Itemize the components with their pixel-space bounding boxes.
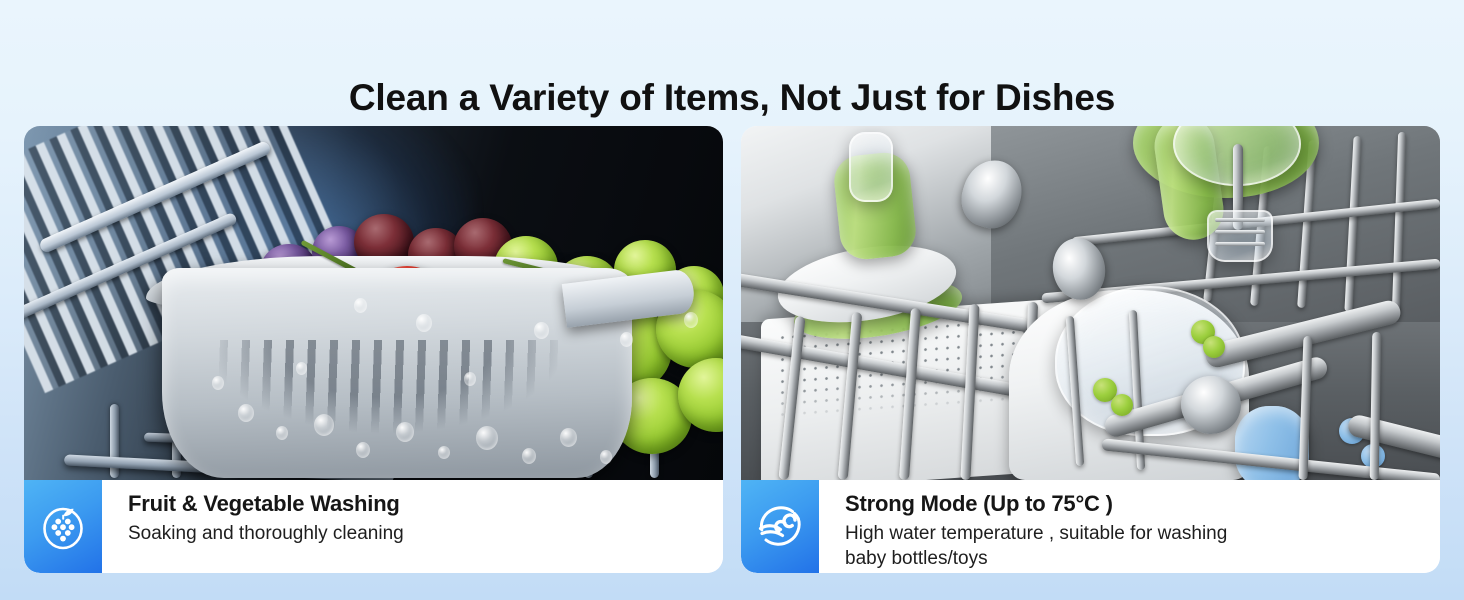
caption-subtitle-line1: High water temperature , suitable for wa…: [845, 523, 1227, 544]
green-bottle-tip: [1111, 394, 1133, 416]
water-droplet: [464, 372, 476, 386]
water-droplet: [314, 414, 334, 436]
water-droplet: [600, 450, 612, 464]
whisk-wire: [1215, 230, 1265, 234]
water-droplet: [296, 362, 307, 375]
caption-subtitle: Soaking and thoroughly cleaning: [128, 521, 723, 546]
water-droplet: [212, 376, 224, 390]
feature-card-fruit-vegetable-washing: Fruit & Vegetable Washing Soaking and th…: [24, 126, 723, 573]
grape-fruit-icon: [38, 502, 88, 552]
feature-caption-strong-mode: Strong Mode (Up to 75°C ) High water tem…: [741, 480, 1440, 573]
caption-text-block: Strong Mode (Up to 75°C ) High water tem…: [819, 480, 1440, 573]
water-droplet: [476, 426, 498, 450]
feature-photo-fruit-vegetable: [24, 126, 723, 480]
caption-text-block: Fruit & Vegetable Washing Soaking and th…: [102, 480, 723, 573]
bottle-nipple-glass: [849, 132, 893, 202]
water-droplet: [416, 314, 432, 332]
whisk-wire: [1215, 218, 1265, 222]
feature-caption-fruit-vegetable: Fruit & Vegetable Washing Soaking and th…: [24, 480, 723, 573]
water-droplet: [438, 446, 450, 459]
water-droplet: [276, 426, 288, 440]
colander-slots: [206, 340, 566, 444]
water-wave-icon-badge: [741, 480, 819, 573]
water-droplet: [620, 332, 633, 347]
caption-title: Fruit & Vegetable Washing: [128, 490, 723, 518]
water-droplet: [522, 448, 536, 464]
caption-subtitle: High water temperature , suitable for wa…: [845, 521, 1440, 571]
feature-photo-strong-mode: [741, 126, 1440, 480]
water-droplet: [560, 428, 577, 447]
water-droplet: [684, 312, 698, 328]
green-bottle-tip: [1203, 336, 1225, 358]
grape-fruit-icon-badge: [24, 480, 102, 573]
water-droplet: [354, 298, 367, 313]
feature-card-strong-mode: Strong Mode (Up to 75°C ) High water tem…: [741, 126, 1440, 573]
water-wave-icon: [754, 501, 806, 553]
page-title: Clean a Variety of Items, Not Just for D…: [0, 76, 1464, 120]
water-droplet: [396, 422, 414, 442]
whisk-wire: [1215, 242, 1265, 246]
caption-title: Strong Mode (Up to 75°C ): [845, 490, 1440, 518]
water-droplet: [356, 442, 370, 458]
caption-subtitle-line2: baby bottles/toys: [845, 548, 988, 569]
water-droplet: [534, 322, 549, 339]
water-droplet: [238, 404, 254, 422]
